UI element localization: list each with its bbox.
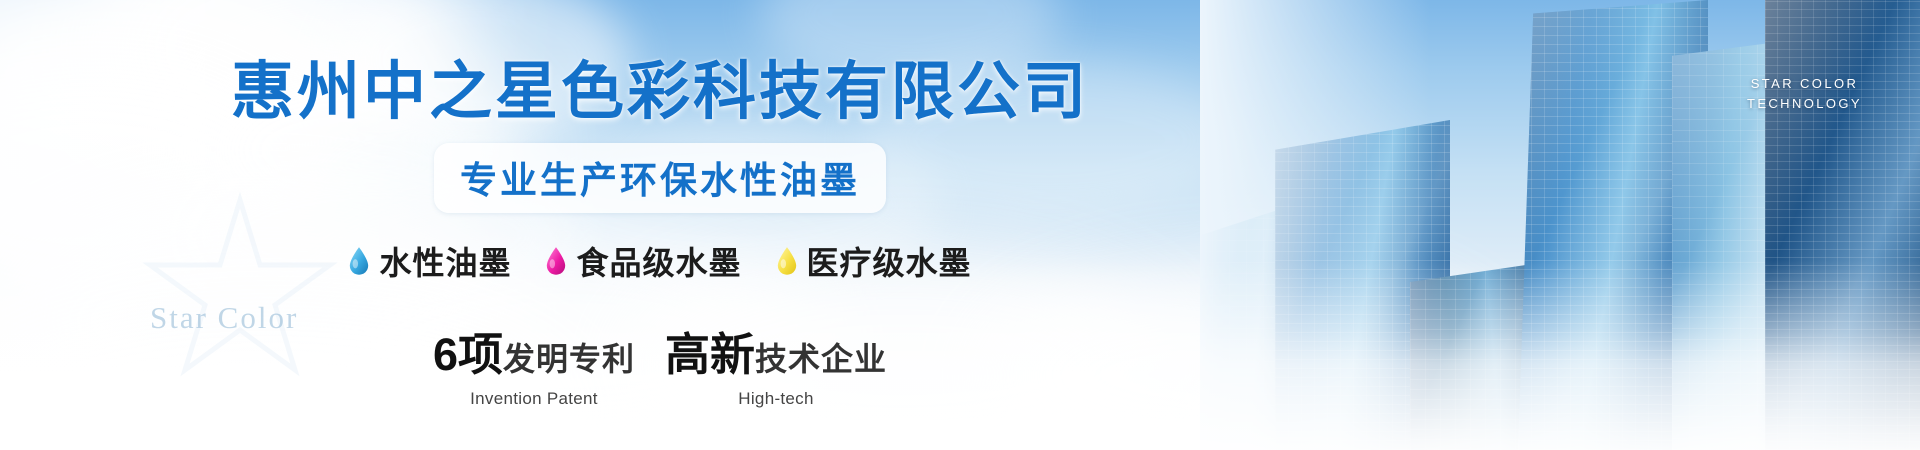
tower-brand-label: STAR COLOR TECHNOLOGY [1747,74,1862,114]
badge-en-2: High-tech [738,389,813,409]
subtitle-pill: 专业生产环保水性油墨 [434,143,886,213]
badge-list: 6项 发明专利 Invention Patent 高新 技术企业 High-te… [433,318,887,409]
badge-high-tech: 高新 技术企业 High-tech [665,318,887,409]
feature-label-1: 水性油墨 [379,238,511,284]
badge-en-1: Invention Patent [470,389,598,409]
tower-brand-line-2: TECHNOLOGY [1747,94,1862,114]
badge-rest-1: 发明专利 [503,334,635,380]
feature-item-3: 医疗级水墨 [776,238,972,284]
badge-cn-2: 高新 技术企业 [665,318,887,383]
hero-banner: STAR COLOR TECHNOLOGY Star Color 惠州中之星色彩… [0,0,1920,450]
feature-item-1: 水性油墨 [348,238,511,284]
feature-item-2: 食品级水墨 [545,238,741,284]
feature-label-2: 食品级水墨 [576,238,741,284]
badge-rest-2: 技术企业 [755,334,887,380]
badge-strong-1: 6项 [433,318,503,383]
banner-content: 惠州中之星色彩科技有限公司 专业生产环保水性油墨 水性油墨 [0,0,1320,450]
water-drop-icon [776,246,798,276]
badge-invention-patent: 6项 发明专利 Invention Patent [433,318,635,409]
page-title: 惠州中之星色彩科技有限公司 [231,58,1089,126]
tower-brand-line-1: STAR COLOR [1747,74,1862,94]
water-drop-icon [545,246,567,276]
feature-label-3: 医疗级水墨 [807,238,972,284]
water-drop-icon [348,246,370,276]
badge-cn-1: 6项 发明专利 [433,318,635,383]
badge-strong-2: 高新 [665,318,755,383]
feature-list: 水性油墨 食品级水墨 [348,238,971,284]
